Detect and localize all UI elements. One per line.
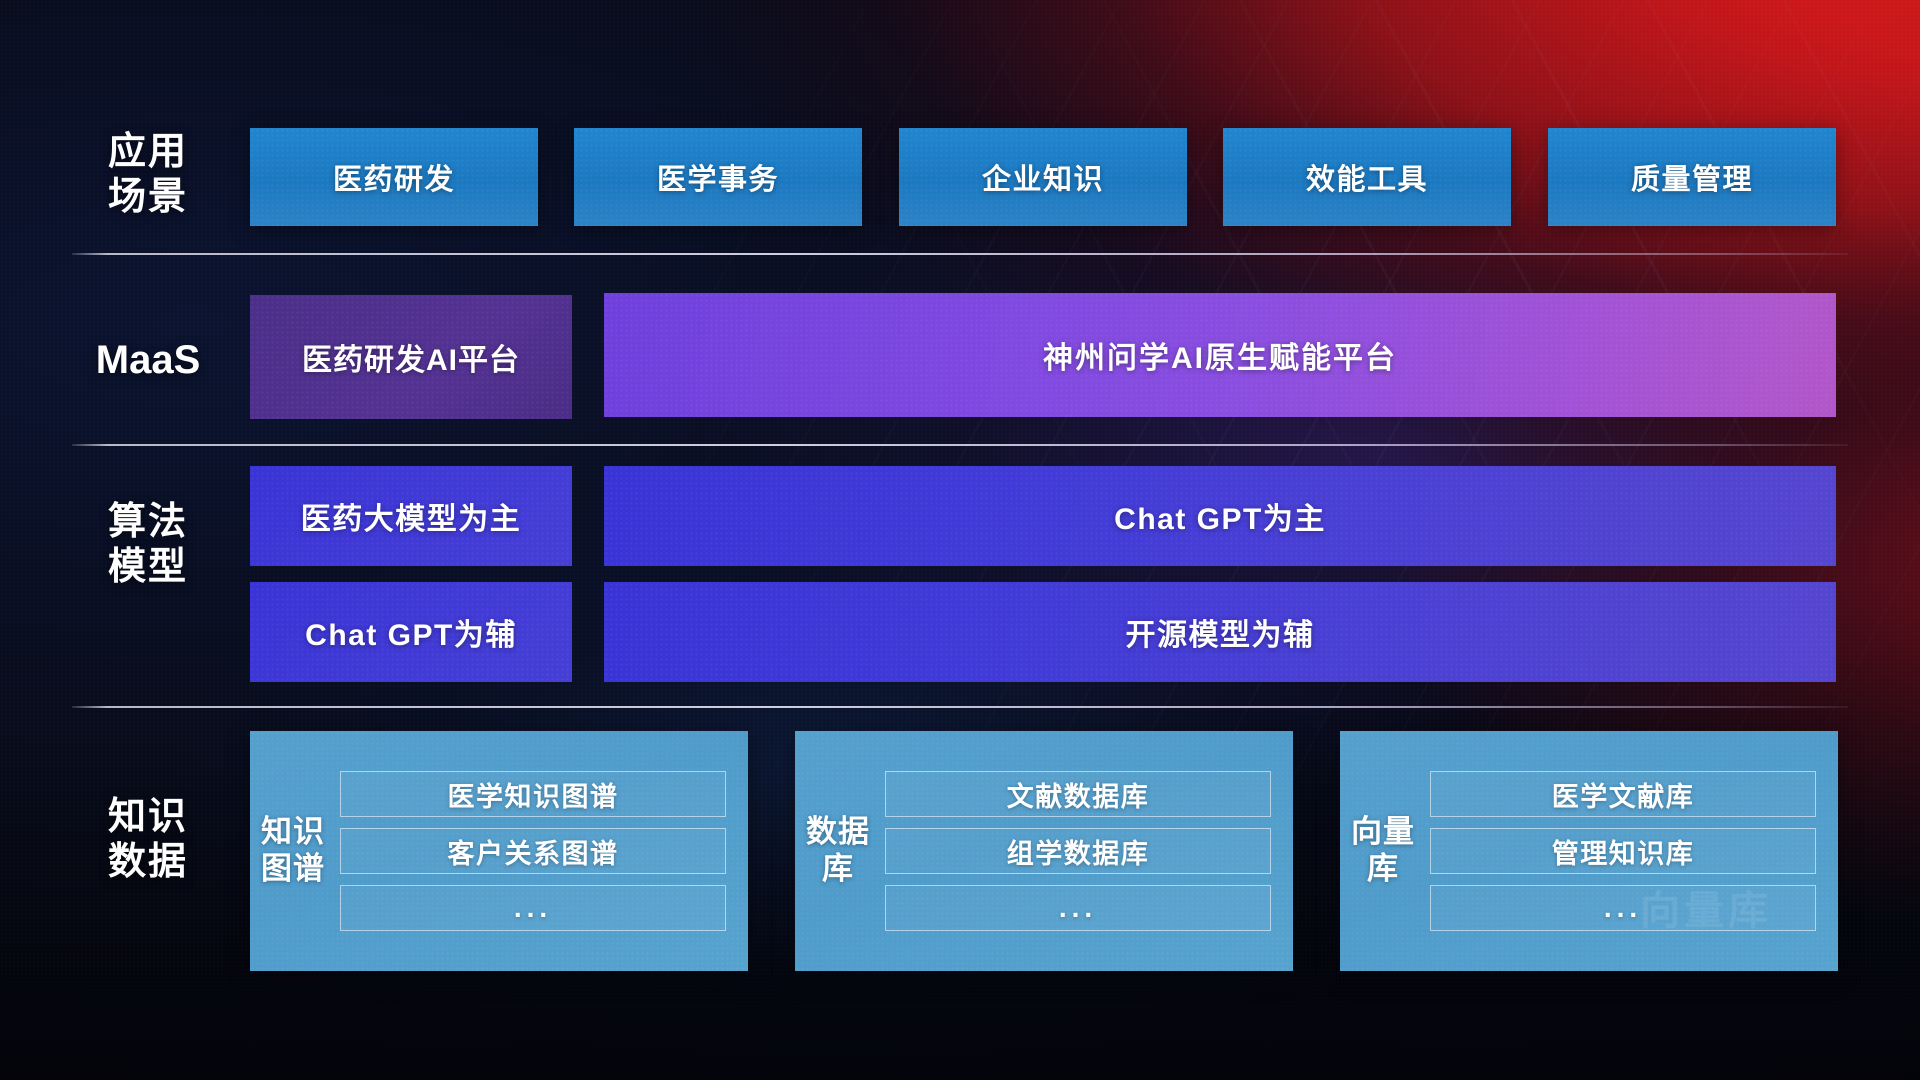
knowledge-item[interactable]: 管理知识库 [1430, 828, 1816, 874]
row-label-application: 应用 场景 [68, 130, 228, 220]
diagram-stage: 应用 场景 医药研发 医学事务 企业知识 效能工具 质量管理 MaaS 医药研发… [0, 0, 1920, 1080]
maas-box-medicine-ai-platform[interactable]: 医药研发AI平台 [250, 295, 572, 419]
row-label-knowledge: 知识 数据 [68, 795, 228, 885]
algo-box-label: Chat GPT为主 [1114, 494, 1326, 538]
knowledge-item[interactable]: 文献数据库 [885, 771, 1271, 817]
knowledge-panel-side-label: 知识 图谱 [250, 731, 336, 971]
knowledge-item-more[interactable]: ... [340, 885, 726, 931]
knowledge-panel-side-label: 数据 库 [795, 731, 881, 971]
knowledge-item-more[interactable]: ... [1430, 885, 1816, 931]
divider-algorithm-knowledge [72, 706, 1848, 708]
app-box-enterprise-knowledge[interactable]: 企业知识 [899, 128, 1187, 226]
algo-box-label: 开源模型为辅 [1126, 610, 1315, 654]
app-box-quality-management[interactable]: 质量管理 [1548, 128, 1836, 226]
knowledge-panel-item-list: 文献数据库 组学数据库 ... [881, 731, 1293, 971]
maas-box-label: 神州问学AI原生赋能平台 [1043, 333, 1397, 377]
app-box-efficiency-tools[interactable]: 效能工具 [1223, 128, 1511, 226]
algo-box-label: Chat GPT为辅 [305, 610, 517, 654]
app-box-label: 质量管理 [1631, 156, 1753, 198]
algo-box-opensource-secondary[interactable]: 开源模型为辅 [604, 582, 1836, 682]
knowledge-panel-item-list: 医学文献库 管理知识库 ... [1426, 731, 1838, 971]
algo-box-label: 医药大模型为主 [301, 494, 522, 538]
app-box-medicine-rd[interactable]: 医药研发 [250, 128, 538, 226]
app-box-label: 医学事务 [657, 156, 779, 198]
maas-box-shenzhou-wenxue-platform[interactable]: 神州问学AI原生赋能平台 [604, 293, 1836, 417]
app-box-label: 企业知识 [982, 156, 1104, 198]
knowledge-panel-side-label: 向量 库 [1340, 731, 1426, 971]
algo-box-chatgpt-secondary[interactable]: Chat GPT为辅 [250, 582, 572, 682]
knowledge-panel-vector-store[interactable]: 向量 库 医学文献库 管理知识库 ... [1340, 731, 1838, 971]
row-label-algorithm: 算法 模型 [68, 500, 228, 590]
knowledge-item[interactable]: 医学知识图谱 [340, 771, 726, 817]
app-box-label: 效能工具 [1306, 156, 1428, 198]
knowledge-panel-knowledge-graph[interactable]: 知识 图谱 医学知识图谱 客户关系图谱 ... [250, 731, 748, 971]
row-label-maas: MaaS [68, 337, 228, 384]
knowledge-panel-database[interactable]: 数据 库 文献数据库 组学数据库 ... [795, 731, 1293, 971]
knowledge-item[interactable]: 组学数据库 [885, 828, 1271, 874]
maas-box-label: 医药研发AI平台 [302, 335, 520, 379]
divider-application-maas [72, 253, 1848, 255]
app-box-medical-affairs[interactable]: 医学事务 [574, 128, 862, 226]
knowledge-panel-item-list: 医学知识图谱 客户关系图谱 ... [336, 731, 748, 971]
app-box-label: 医药研发 [333, 156, 455, 198]
algo-box-medicine-llm-primary[interactable]: 医药大模型为主 [250, 466, 572, 566]
knowledge-item[interactable]: 医学文献库 [1430, 771, 1816, 817]
algo-box-chatgpt-primary[interactable]: Chat GPT为主 [604, 466, 1836, 566]
knowledge-item-more[interactable]: ... [885, 885, 1271, 931]
divider-maas-algorithm [72, 444, 1848, 446]
knowledge-item[interactable]: 客户关系图谱 [340, 828, 726, 874]
